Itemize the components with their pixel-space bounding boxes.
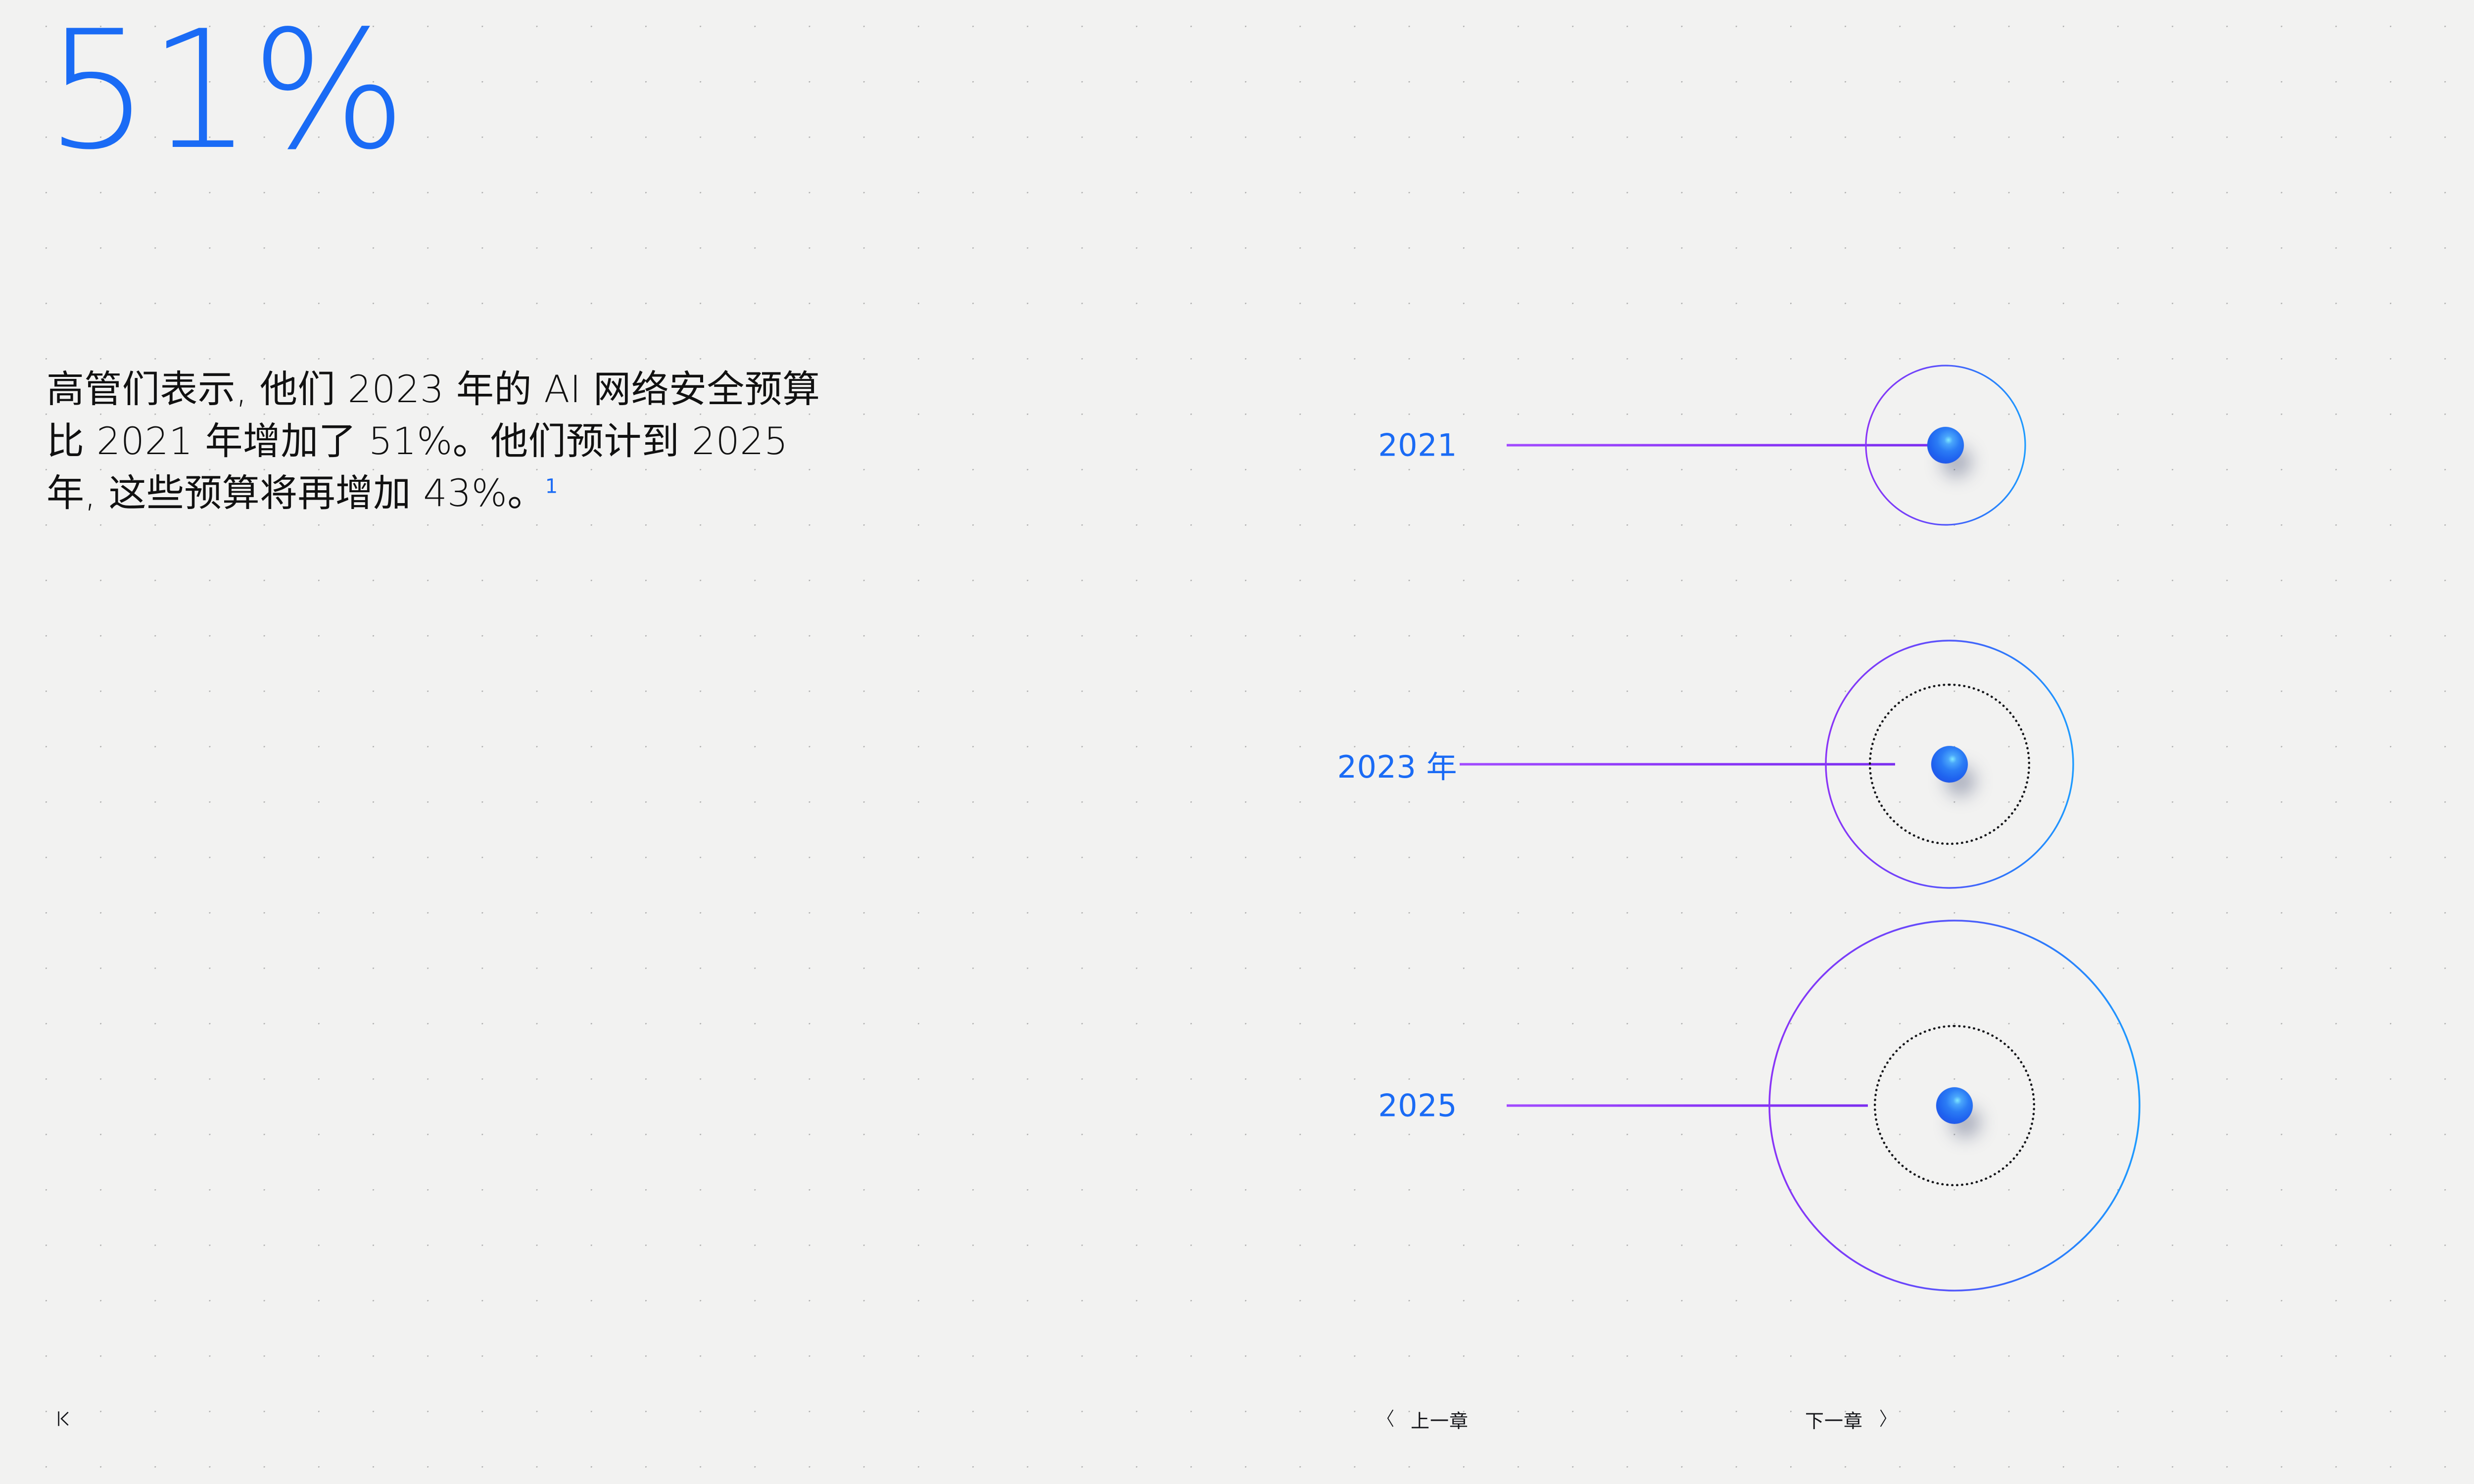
bubble-orb-2025: [1936, 1087, 1973, 1124]
bubble-label-2025: 2025: [1378, 1088, 1457, 1124]
bubble-orb-2021: [1927, 427, 1964, 464]
chevron-right-icon: [1876, 1407, 1891, 1432]
next-chapter-button[interactable]: 下一章: [1805, 1406, 1891, 1433]
prev-chapter-label: 上一章: [1411, 1406, 1469, 1433]
first-page-button[interactable]: [53, 1407, 76, 1433]
next-chapter-label: 下一章: [1805, 1406, 1863, 1433]
prev-chapter-button[interactable]: 上一章: [1383, 1406, 1469, 1433]
bubble-orb-2023: [1931, 746, 1968, 783]
headline-stat: 51%: [46, 9, 405, 172]
left-content-column: 51% 高管们表示, 他们 2023 年的 AI 网络安全预算比 2021 年增…: [46, 0, 887, 1484]
body-paragraph: 高管们表示, 他们 2023 年的 AI 网络安全预算比 2021 年增加了 5…: [47, 364, 833, 519]
footnote-marker[interactable]: 1: [545, 475, 558, 498]
bubble-ring-2023: [1825, 640, 2074, 889]
chevron-left-icon: [1383, 1407, 1398, 1432]
body-paragraph-text: 高管们表示, 他们 2023 年的 AI 网络安全预算比 2021 年增加了 5…: [47, 367, 820, 515]
skip-to-first-icon: [53, 1407, 76, 1433]
bubble-label-2023: 2023 年: [1337, 742, 1458, 787]
bubble-ring-2025: [1768, 920, 2141, 1292]
slide-canvas: 51% 高管们表示, 他们 2023 年的 AI 网络安全预算比 2021 年增…: [0, 0, 2474, 1484]
bubble-label-2021: 2021: [1378, 427, 1457, 464]
bubble-ring-2021: [1865, 365, 2026, 526]
bubble-chart: 2021: [1286, 307, 2276, 1355]
